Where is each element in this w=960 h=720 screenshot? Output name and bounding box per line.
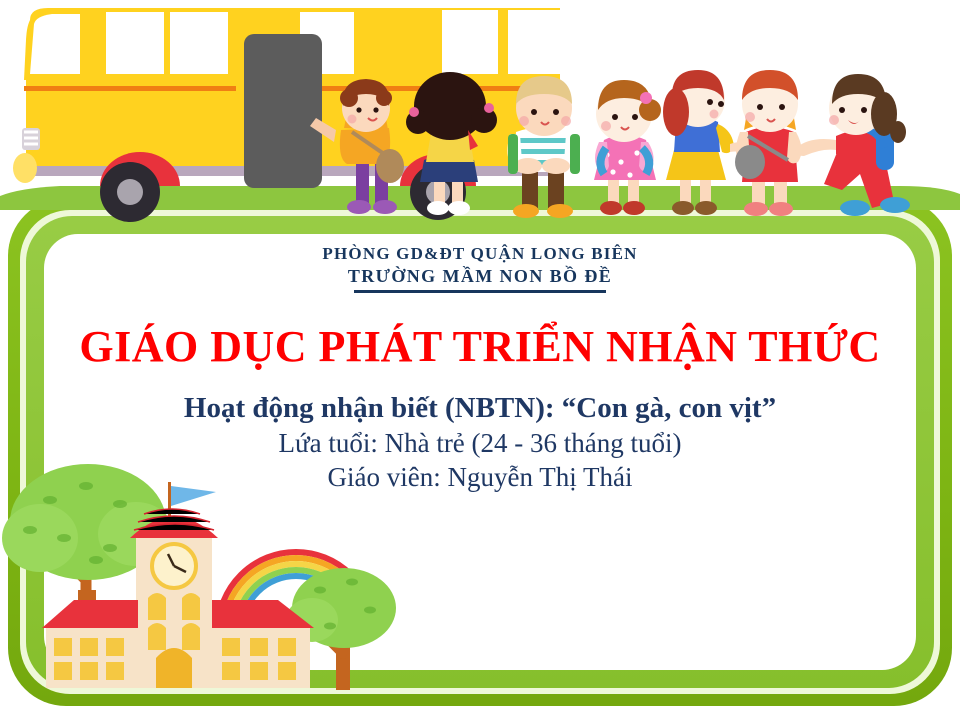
top-illustration xyxy=(0,0,960,235)
slide-root: dreamstime stock illustration xyxy=(0,0,960,720)
bottom-illustration xyxy=(0,430,400,720)
